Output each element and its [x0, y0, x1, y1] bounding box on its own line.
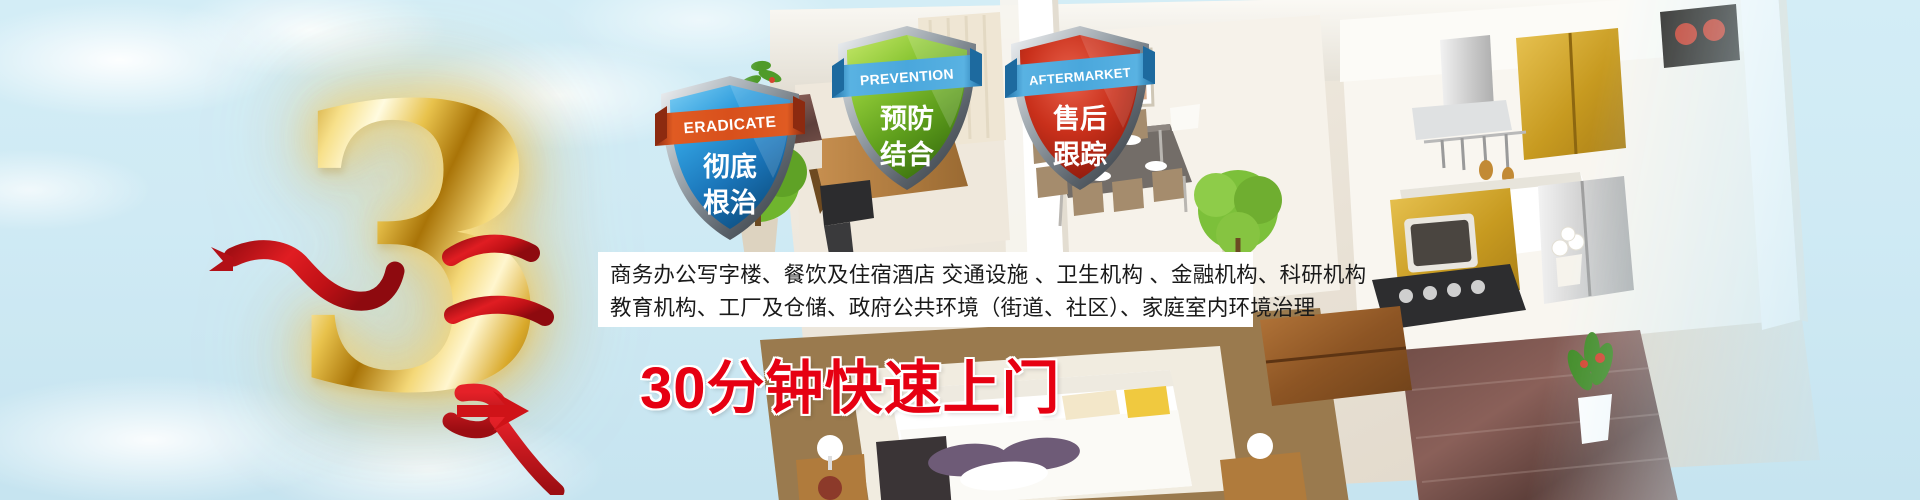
- shield-prevention-cn-line2: 结合: [880, 139, 934, 171]
- shield-prevention-graphic: PREVENTION 预防 结合: [832, 22, 982, 194]
- shield-prevention: PREVENTION 预防 结合: [832, 22, 982, 194]
- shield-aftermarket-cn-line2: 跟踪: [1053, 140, 1107, 171]
- shield-eradicate-graphic: ERADICATE 彻底 根治: [655, 72, 805, 244]
- service-scope-line-2: 教育机构、工厂及仓储、政府公共环境（街道、社区）、家庭室内环境治理: [610, 292, 1243, 325]
- gold-numeral-3: 3: [255, 85, 585, 425]
- shield-aftermarket-graphic: AFTERMARKET 售后 跟踪: [1005, 22, 1155, 194]
- numeral-glyph: 3: [255, 85, 585, 425]
- shield-eradicate-cn-line2: 根治: [703, 188, 757, 219]
- shield-aftermarket: AFTERMARKET 售后 跟踪: [1005, 22, 1155, 194]
- shield-eradicate: ERADICATE 彻底 根治: [655, 72, 805, 244]
- promo-banner: 3: [0, 0, 1920, 500]
- service-scope-line-1: 商务办公写字楼、餐饮及住宿酒店 交通设施 、卫生机构 、金融机构、科研机构: [610, 259, 1243, 292]
- shield-prevention-cn-line1: 预防: [880, 104, 934, 135]
- shield-aftermarket-cn-line1: 售后: [1053, 103, 1107, 135]
- shield-eradicate-cn-line1: 彻底: [703, 151, 757, 183]
- headline-30min-service: 30分钟快速上门: [640, 356, 1061, 422]
- service-scope-panel: 商务办公写字楼、餐饮及住宿酒店 交通设施 、卫生机构 、金融机构、科研机构 教育…: [598, 252, 1253, 327]
